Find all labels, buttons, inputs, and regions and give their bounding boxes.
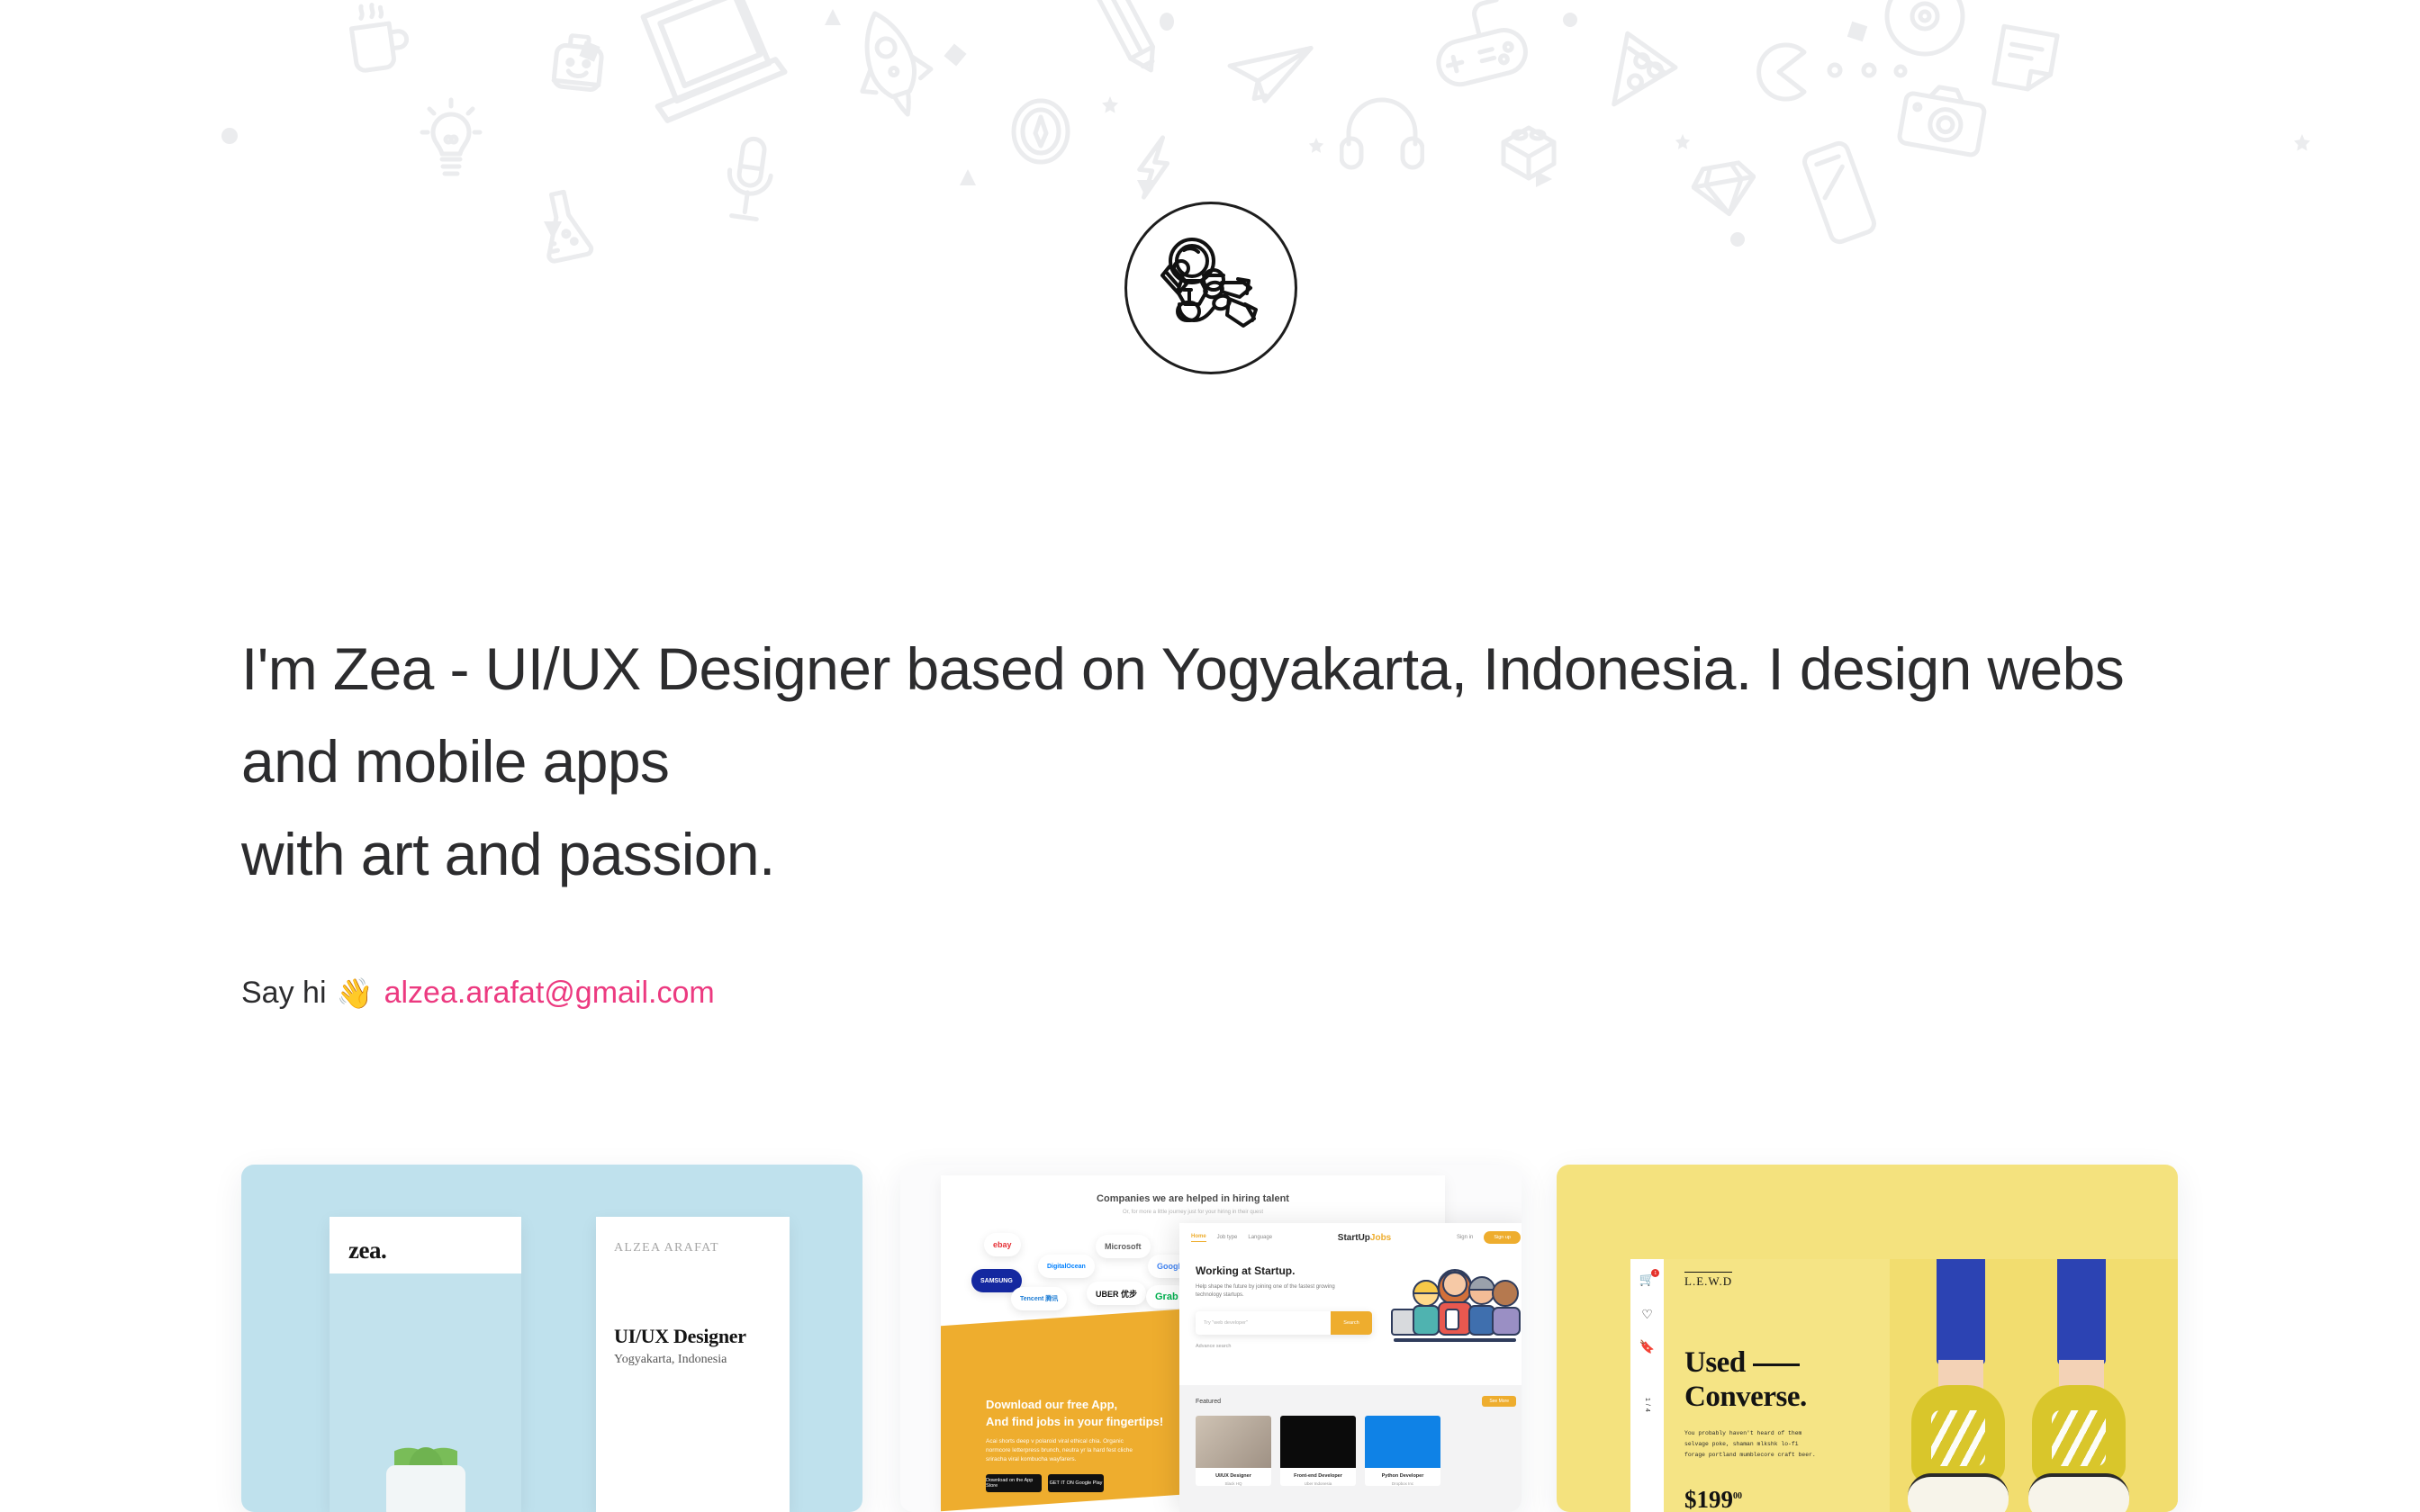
team-illustration — [1386, 1263, 1522, 1349]
business-card-back: ALZEA ARAFAT UI/UX Designer Yogyakarta, … — [596, 1217, 790, 1512]
company-logo-digitalocean: DigitalOcean — [1038, 1255, 1095, 1278]
product-photo — [1890, 1259, 2178, 1512]
mockup-hero: Working at Startup. Help shape the futur… — [1179, 1252, 1522, 1385]
lightbulb-icon — [418, 94, 484, 183]
product-title-line2: Converse. — [1684, 1381, 1807, 1413]
dot-icon — [221, 128, 238, 144]
dot-icon — [1892, 63, 1909, 79]
pizza-icon — [1601, 26, 1685, 119]
nav-signin-link[interactable]: Sign in — [1457, 1235, 1473, 1240]
lewd-brand-logo: L.E.W.D — [1684, 1272, 1732, 1289]
nav-item-home[interactable]: Home — [1191, 1234, 1206, 1242]
camera-icon — [1894, 76, 1991, 161]
featured-header: Featured See More — [1196, 1396, 1516, 1407]
zea-wordmark: zea. — [348, 1237, 386, 1264]
company-logo-uber: UBER 优步 — [1087, 1282, 1146, 1305]
nav-item-job-type[interactable]: Job type — [1217, 1235, 1238, 1240]
dot-icon — [1826, 61, 1844, 79]
coffee-mug-icon — [339, 0, 415, 76]
diamond-icon — [1688, 155, 1762, 224]
rocket-icon — [833, 0, 950, 131]
job-card[interactable]: Python Developer Dropbox Inc — [1365, 1416, 1440, 1486]
succulent-plant — [394, 1429, 457, 1469]
headline-line-1: I'm Zea - UI/UX Designer based on Yogyak… — [241, 623, 2132, 808]
product-title-line1: Used — [1684, 1346, 1746, 1379]
price-cents: 00 — [1733, 1491, 1742, 1501]
sticky-note-icon — [1988, 20, 2063, 98]
project-grid: zea. ALZEA ARAFAT UI/UX Designer Yogyaka… — [0, 1165, 2420, 1512]
featured-section: Featured See More UI/UX Designer Slack H… — [1179, 1385, 1522, 1512]
converse-shoe-right — [2032, 1385, 2126, 1512]
shopping-basket-icon[interactable]: 🛒 1 — [1639, 1272, 1655, 1288]
jeans-leg-right — [2057, 1259, 2106, 1365]
triangle-icon — [544, 221, 562, 239]
shop-side-rail: 🛒 1 ♡ 🔖 1/4 — [1630, 1259, 1664, 1512]
startupjobs-home-mockup: Home Job type Language StartUpJobs Sign … — [1179, 1223, 1522, 1512]
flask-icon — [531, 184, 598, 267]
triangle-icon — [960, 169, 976, 185]
lightning-bolt-icon — [1129, 131, 1178, 203]
gamepad-icon — [1421, 0, 1538, 101]
product-price: $19900 — [1684, 1486, 1742, 1512]
headphones-icon — [1340, 94, 1424, 171]
plant-photo — [330, 1273, 521, 1512]
triangle-icon — [1137, 180, 1153, 196]
square-icon — [1847, 22, 1868, 42]
project-card-zea-branding[interactable]: zea. ALZEA ARAFAT UI/UX Designer Yogyaka… — [241, 1165, 862, 1512]
dot-icon — [1563, 13, 1577, 27]
job-card[interactable]: UI/UX Designer Slack HQ — [1196, 1416, 1271, 1486]
converse-shoe-left — [1911, 1385, 2005, 1512]
app-store-badge[interactable]: Download on the App Store — [986, 1474, 1042, 1492]
job-company: Uber Indonesia — [1280, 1481, 1356, 1486]
plant-pot — [386, 1465, 465, 1512]
job-thumbnail — [1280, 1416, 1356, 1468]
mockup-search-bar[interactable]: Try "web developer" Search — [1196, 1311, 1372, 1335]
product-description: You probably haven't heard of them selva… — [1684, 1428, 1821, 1461]
waving-hand-icon: 👋 — [337, 978, 374, 1008]
lewd-shop-mockup: 🛒 1 ♡ 🔖 1/4 L.E.W.D Used Converse. You p… — [1630, 1259, 2178, 1512]
smartphone-icon — [1796, 136, 1883, 249]
contact-line: Say hi 👋 alzea.arafat@gmail.com — [241, 973, 715, 1012]
job-title: Python Developer — [1365, 1473, 1440, 1479]
project-card-lewd-shop[interactable]: 🛒 1 ♡ 🔖 1/4 L.E.W.D Used Converse. You p… — [1557, 1165, 2178, 1512]
jeans-leg-left — [1937, 1259, 1985, 1365]
cart-badge: 1 — [1651, 1269, 1659, 1277]
featured-label: Featured — [1196, 1399, 1221, 1405]
dot-icon — [1160, 13, 1174, 31]
job-thumbnail — [1365, 1416, 1440, 1468]
business-card-name: ALZEA ARAFAT — [614, 1241, 719, 1255]
slide-pager: 1/4 — [1644, 1398, 1650, 1415]
headline-line-2: with art and passion. — [241, 808, 2132, 901]
price-amount: $199 — [1684, 1486, 1733, 1512]
job-card-list: UI/UX Designer Slack HQ Front-end Develo… — [1196, 1416, 1516, 1486]
search-input-placeholder[interactable]: Try "web developer" — [1204, 1320, 1248, 1326]
star-icon — [1100, 95, 1120, 115]
job-title: Front-end Developer — [1280, 1473, 1356, 1479]
see-more-button[interactable]: See More — [1482, 1396, 1516, 1407]
job-company: Dropbox Inc — [1365, 1481, 1440, 1486]
triangle-icon — [825, 9, 841, 25]
job-card[interactable]: Front-end Developer Uber Indonesia — [1280, 1416, 1356, 1486]
star-icon — [2292, 133, 2312, 153]
site-logo[interactable] — [1124, 202, 1297, 374]
mockup-brand-logo: StartUpJobs — [1338, 1233, 1391, 1243]
say-hi-label: Say hi — [241, 973, 327, 1012]
search-button[interactable]: Search — [1331, 1311, 1372, 1335]
product-title: Used Converse. — [1684, 1345, 1807, 1414]
business-card-role: UI/UX Designer — [614, 1325, 746, 1348]
star-icon — [1674, 133, 1692, 151]
company-logo-tencent: Tencent 腾讯 — [1011, 1287, 1067, 1310]
company-logo-ebay: ebay — [984, 1233, 1021, 1256]
pacman-icon — [1748, 41, 1813, 103]
compass-icon — [1010, 97, 1071, 166]
paper-plane-icon — [1218, 26, 1318, 114]
mockup-navbar: Home Job type Language StartUpJobs Sign … — [1179, 1223, 1522, 1252]
portfolio-landing-page: I'm Zea - UI/UX Designer based on Yogyak… — [0, 0, 2420, 1512]
email-link[interactable]: alzea.arafat@gmail.com — [384, 973, 715, 1012]
google-play-badge[interactable]: GET IT ON Google Play — [1048, 1474, 1104, 1492]
company-logo-microsoft: Microsoft — [1096, 1235, 1151, 1258]
bookmark-icon[interactable]: 🔖 — [1639, 1340, 1655, 1353]
microphone-icon — [714, 131, 784, 232]
pencil-icon — [1079, 0, 1180, 90]
job-title: UI/UX Designer — [1196, 1473, 1271, 1479]
heart-icon[interactable]: ♡ — [1641, 1308, 1653, 1320]
companies-heading: Companies we are helped in hiring talent — [941, 1193, 1445, 1204]
square-icon — [579, 40, 600, 61]
cd-disc-icon — [1882, 0, 1968, 59]
laptop-icon — [615, 0, 805, 138]
title-dash — [1753, 1363, 1800, 1366]
company-logo-samsung: SAMSUNG — [971, 1269, 1022, 1292]
nav-signup-button[interactable]: Sign up — [1484, 1231, 1521, 1244]
square-icon — [944, 43, 966, 66]
mockup-hero-body: Help shape the future by joining one of … — [1196, 1283, 1347, 1300]
lego-brick-icon — [1494, 117, 1563, 184]
triangle-icon — [1536, 171, 1552, 187]
promo-body: Acai shorts deep v polaroid viral ethica… — [986, 1437, 1148, 1464]
astronaut-logo-icon — [1124, 202, 1297, 374]
nav-item-language[interactable]: Language — [1248, 1235, 1272, 1240]
project-card-startupjobs[interactable]: Companies we are helped in hiring talent… — [900, 1165, 1522, 1512]
companies-subheading: Or, for more a little journey just for y… — [941, 1210, 1445, 1215]
page-title: I'm Zea - UI/UX Designer based on Yogyak… — [241, 623, 2132, 901]
job-company: Slack HQ — [1196, 1481, 1271, 1486]
dot-icon — [1730, 232, 1745, 247]
job-thumbnail — [1196, 1416, 1271, 1468]
business-card-location: Yogyakarta, Indonesia — [614, 1353, 727, 1367]
business-card-front: zea. — [330, 1217, 521, 1512]
star-icon — [1307, 137, 1325, 155]
dot-icon — [1860, 61, 1878, 79]
lego-head-icon — [547, 31, 610, 100]
